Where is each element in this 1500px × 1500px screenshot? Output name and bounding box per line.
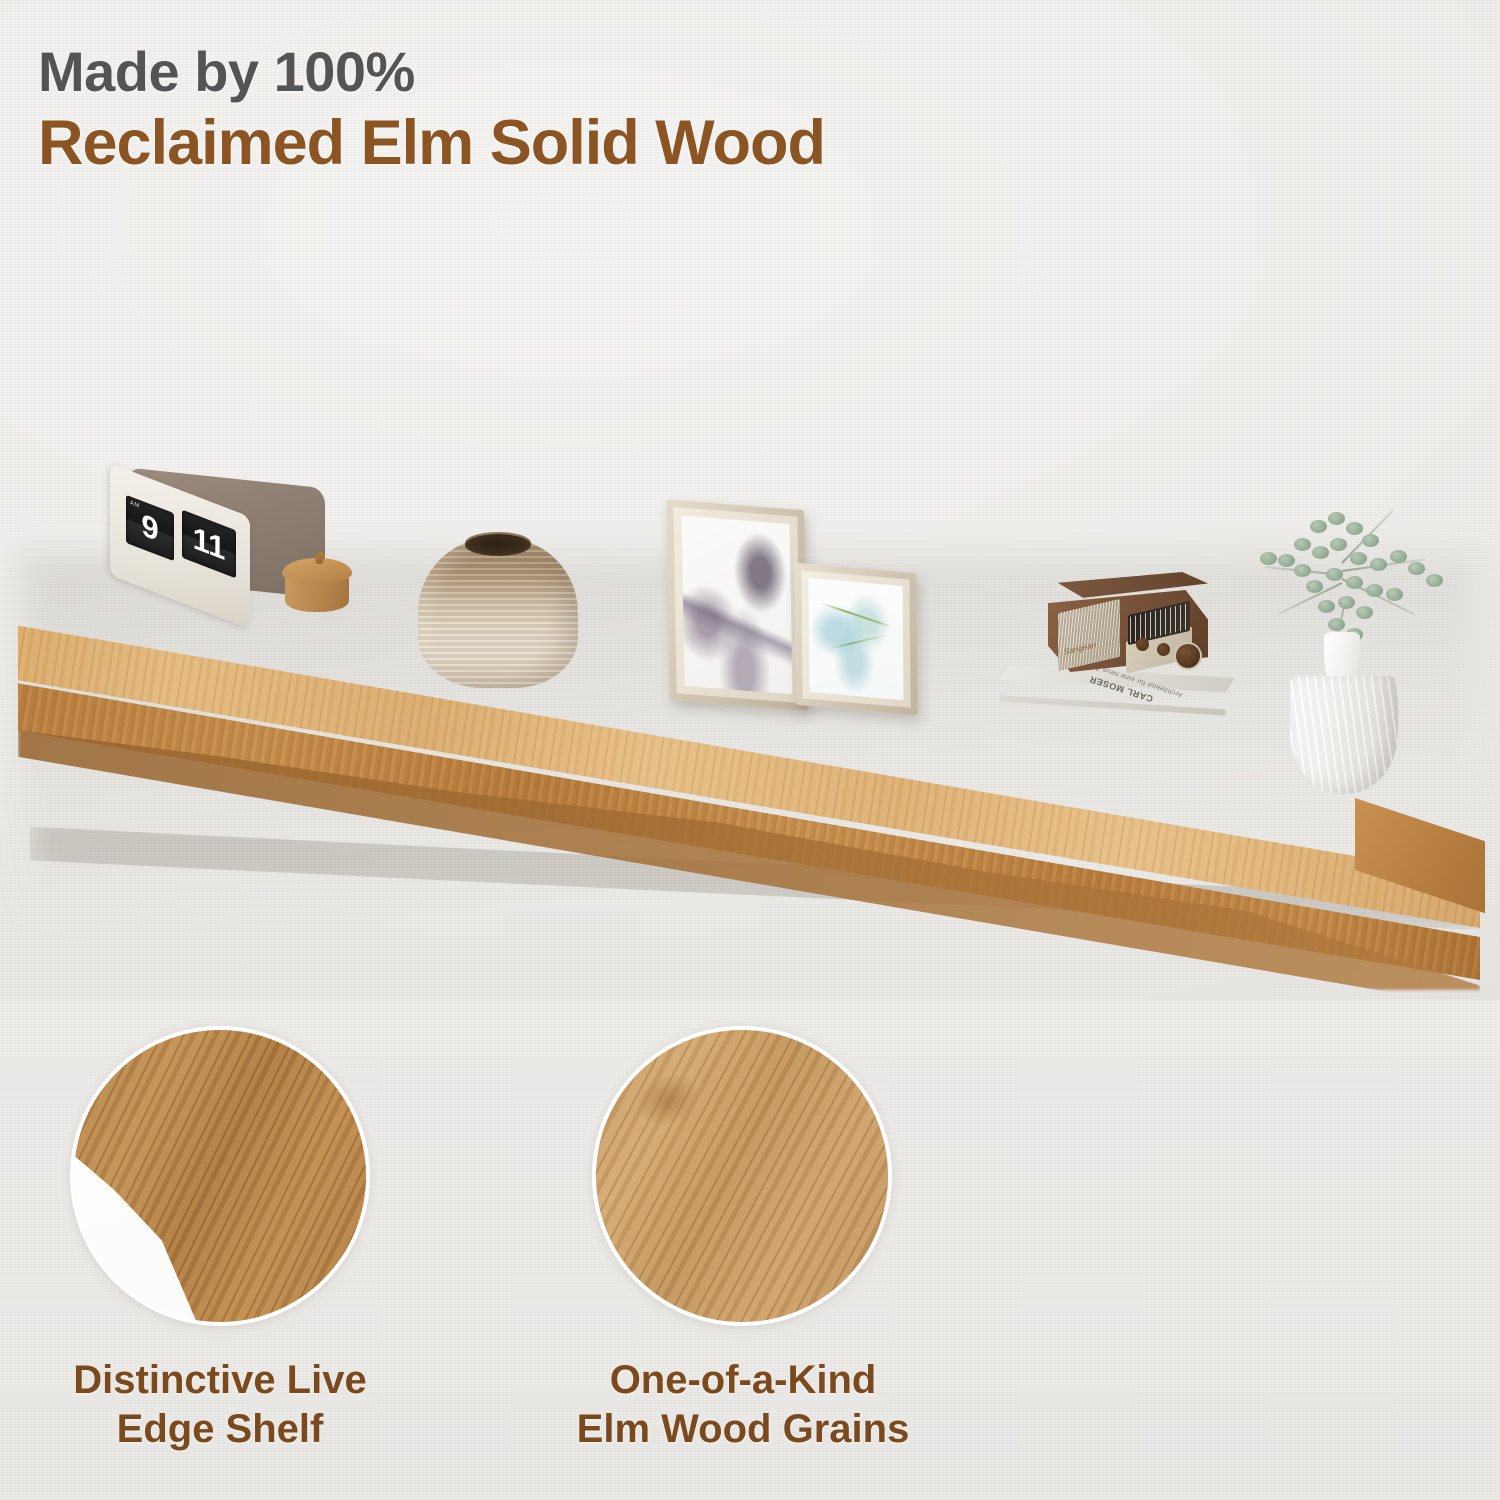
eucalyptus-leaf xyxy=(1294,564,1311,577)
detail-live-edge xyxy=(70,1026,370,1326)
eucalyptus-leaf xyxy=(1426,574,1443,587)
headline-line-1: Made by 100% xyxy=(38,42,825,101)
ribbed-ceramic-vase xyxy=(418,528,578,688)
ceramic-vase-ribs xyxy=(418,538,578,688)
eucalyptus-leaf xyxy=(1346,522,1363,535)
frame-large-artwork xyxy=(682,516,793,695)
caption-live-edge-line-1: Distinctive Live xyxy=(10,1356,430,1405)
eucalyptus-leaf xyxy=(1294,538,1311,551)
botanical-stem-1 xyxy=(821,602,893,628)
picture-frame-small xyxy=(794,563,917,716)
caption-wood-grain-line-2: Elm Wood Grains xyxy=(500,1405,986,1454)
vase-flutes xyxy=(1290,676,1398,794)
shelf-scene: AM 9 11 xyxy=(0,480,1500,1020)
eucalyptus-leaf xyxy=(1346,576,1363,589)
eucalyptus-leaf xyxy=(1328,618,1345,631)
eucalyptus-leaf xyxy=(1386,588,1403,601)
caption-live-edge: Distinctive Live Edge Shelf xyxy=(10,1356,430,1454)
botanical-stem-2 xyxy=(829,635,885,650)
eucalyptus-leaf xyxy=(1330,538,1347,551)
product-marketing-image: Made by 100% Reclaimed Elm Solid Wood AM… xyxy=(0,0,1500,1500)
eucalyptus-leaf xyxy=(1278,554,1295,567)
eucalyptus-leaf xyxy=(1366,584,1383,597)
caption-wood-grain: One-of-a-Kind Elm Wood Grains xyxy=(500,1356,986,1454)
headline-block: Made by 100% Reclaimed Elm Solid Wood xyxy=(38,42,825,179)
eucalyptus-leaf xyxy=(1310,520,1327,533)
eucalyptus-leaf xyxy=(1362,534,1379,547)
eucalyptus-leaf xyxy=(1328,512,1345,525)
radio-knob-1 xyxy=(1136,638,1149,651)
white-fluted-vase-with-eucalyptus xyxy=(1250,500,1450,790)
ceramic-vase-mouth xyxy=(465,534,531,556)
eucalyptus-leaf xyxy=(1408,562,1425,575)
eucalyptus-leaf xyxy=(1338,596,1355,609)
eucalyptus-leaf xyxy=(1356,606,1373,619)
eucalyptus-leaf xyxy=(1326,568,1343,581)
wooden-lidded-box xyxy=(282,552,352,614)
caption-wood-grain-line-1: One-of-a-Kind xyxy=(500,1356,986,1405)
eucalyptus-leaf xyxy=(1260,552,1277,565)
eucalyptus-leaf xyxy=(1350,552,1367,565)
detail-wood-grain xyxy=(592,1026,892,1326)
frame-small-artwork xyxy=(809,578,904,700)
vintage-radio: Sangean xyxy=(1040,572,1210,682)
eucalyptus-leaf xyxy=(1370,558,1387,571)
headline-line-2: Reclaimed Elm Solid Wood xyxy=(38,109,825,178)
caption-live-edge-line-2: Edge Shelf xyxy=(10,1405,430,1454)
radio-volume-knob xyxy=(1176,644,1200,668)
eucalyptus-leaf xyxy=(1390,550,1407,563)
eucalyptus-leaf xyxy=(1306,580,1323,593)
eucalyptus-leaf xyxy=(1312,546,1329,559)
picture-frame-large xyxy=(666,499,807,710)
detail-wood-grain-surface xyxy=(596,1030,888,1322)
radio-knob-2 xyxy=(1157,643,1170,656)
eucalyptus-leaf xyxy=(1318,600,1335,613)
